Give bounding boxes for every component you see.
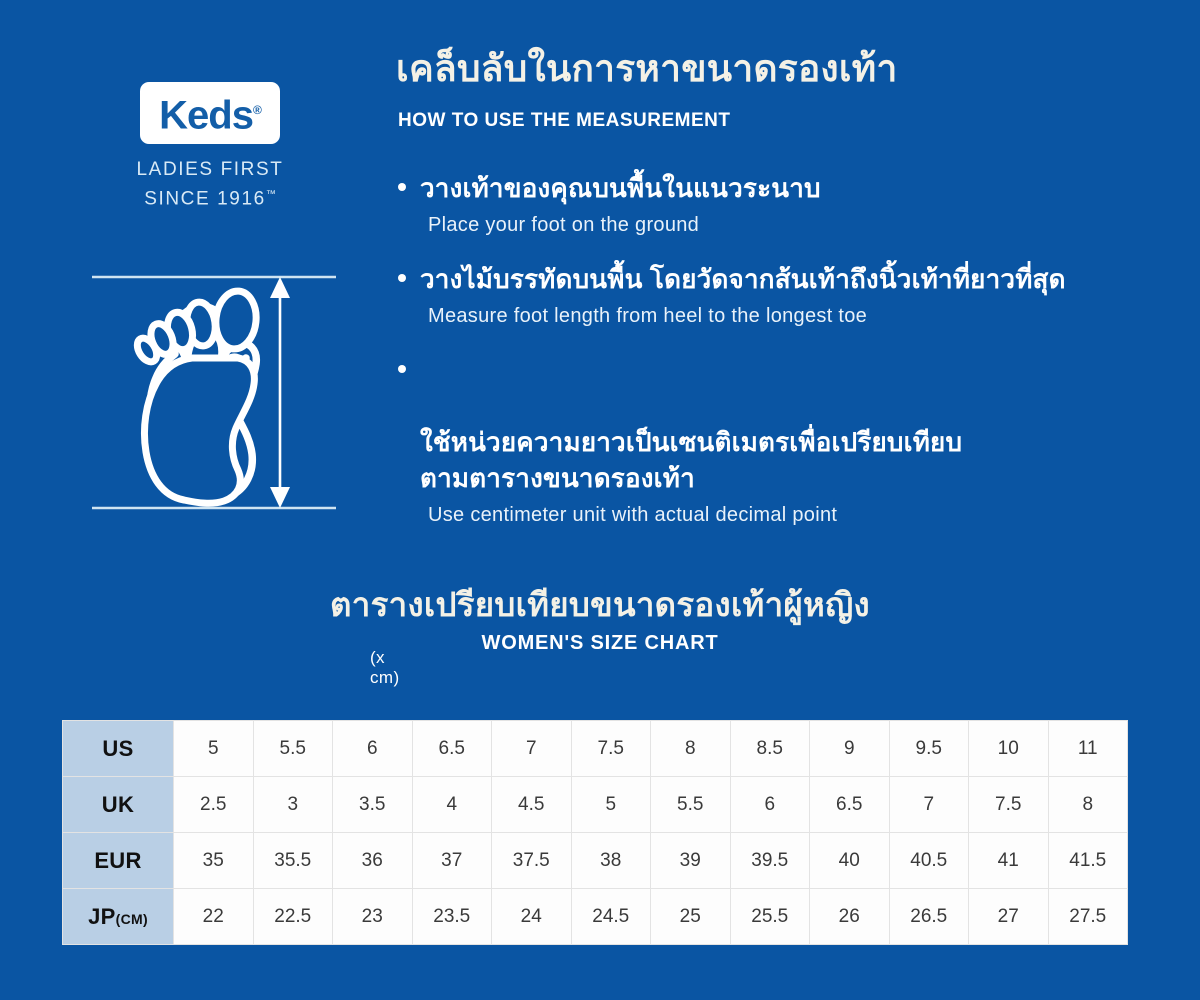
row-label-jp-text: JP bbox=[88, 904, 116, 929]
size-chart-body: US 5 5.5 6 6.5 7 7.5 8 8.5 9 9.5 10 11 U… bbox=[63, 721, 1128, 945]
step-2-thai-text: วางไม้บรรทัดบนพื้น โดยวัดจากส้นเท้าถึงนิ… bbox=[420, 264, 1066, 294]
step-2-english: Measure foot length from heel to the lon… bbox=[396, 305, 1156, 328]
cell-jp-0: 22 bbox=[174, 889, 254, 945]
table-row: UK 2.5 3 3.5 4 4.5 5 5.5 6 6.5 7 7.5 8 bbox=[63, 777, 1128, 833]
cell-eur-3: 37 bbox=[412, 833, 492, 889]
cell-uk-5: 5 bbox=[571, 777, 651, 833]
tagline-line-1: LADIES FIRST bbox=[110, 157, 310, 182]
cell-uk-1: 3 bbox=[253, 777, 333, 833]
table-row: EUR 35 35.5 36 37 37.5 38 39 39.5 40 40.… bbox=[63, 833, 1128, 889]
cell-jp-9: 26.5 bbox=[889, 889, 969, 945]
cell-uk-9: 7 bbox=[889, 777, 969, 833]
cell-eur-6: 39 bbox=[651, 833, 731, 889]
cell-uk-2: 3.5 bbox=[333, 777, 413, 833]
keds-logo-text: Keds bbox=[159, 94, 253, 138]
cell-jp-10: 27 bbox=[969, 889, 1049, 945]
cell-eur-9: 40.5 bbox=[889, 833, 969, 889]
step-3-thai: ใช้หน่วยความยาวเป็นเซนติเมตรเพื่อเปรียบเ… bbox=[396, 352, 1156, 496]
page-title-thai: เคล็บลับในการหาขนาดรองเท้า bbox=[396, 46, 898, 92]
brand-tagline: LADIES FIRST SINCE 1916™ bbox=[110, 157, 310, 211]
cell-us-0: 5 bbox=[174, 721, 254, 777]
foot-measurement-diagram: (x cm) bbox=[88, 268, 348, 518]
brand-logo-block: Keds® LADIES FIRST SINCE 1916™ bbox=[110, 82, 310, 211]
cell-eur-2: 36 bbox=[333, 833, 413, 889]
cell-jp-1: 22.5 bbox=[253, 889, 333, 945]
step-3-english: Use centimeter unit with actual decimal … bbox=[396, 504, 1156, 527]
cell-uk-3: 4 bbox=[412, 777, 492, 833]
keds-logo-box: Keds® bbox=[140, 82, 280, 144]
tagline-line-2: SINCE 1916™ bbox=[110, 182, 310, 211]
cell-uk-6: 5.5 bbox=[651, 777, 731, 833]
row-label-jp: JP(CM) bbox=[63, 889, 174, 945]
foot-outline-icon bbox=[88, 268, 348, 518]
registered-trademark-icon: ® bbox=[253, 103, 261, 117]
table-row: JP(CM) 22 22.5 23 23.5 24 24.5 25 25.5 2… bbox=[63, 889, 1128, 945]
step-1-english: Place your foot on the ground bbox=[396, 214, 1156, 237]
cell-us-9: 9.5 bbox=[889, 721, 969, 777]
cell-us-1: 5.5 bbox=[253, 721, 333, 777]
cell-us-8: 9 bbox=[810, 721, 890, 777]
size-guide-page: Keds® LADIES FIRST SINCE 1916™ bbox=[0, 0, 1200, 1000]
instruction-step-3: ใช้หน่วยความยาวเป็นเซนติเมตรเพื่อเปรียบเ… bbox=[396, 352, 1156, 527]
row-label-us: US bbox=[63, 721, 174, 777]
cell-uk-4: 4.5 bbox=[492, 777, 572, 833]
cell-us-3: 6.5 bbox=[412, 721, 492, 777]
keds-wordmark: Keds® bbox=[159, 90, 261, 135]
cell-us-11: 11 bbox=[1048, 721, 1128, 777]
size-chart-title-english: WOMEN'S SIZE CHART bbox=[0, 632, 1200, 655]
cell-uk-7: 6 bbox=[730, 777, 810, 833]
row-label-eur-text: EUR bbox=[94, 848, 141, 873]
cell-us-6: 8 bbox=[651, 721, 731, 777]
cell-eur-10: 41 bbox=[969, 833, 1049, 889]
trademark-icon: ™ bbox=[266, 189, 276, 200]
step-1-thai-text: วางเท้าของคุณบนพื้นในแนวระนาบ bbox=[420, 173, 821, 203]
row-label-us-text: US bbox=[102, 736, 133, 761]
row-label-uk: UK bbox=[63, 777, 174, 833]
cell-eur-11: 41.5 bbox=[1048, 833, 1128, 889]
size-chart-title-thai: ตารางเปรียบเทียบขนาดรองเท้าผู้หญิง bbox=[0, 578, 1200, 631]
table-row: US 5 5.5 6 6.5 7 7.5 8 8.5 9 9.5 10 11 bbox=[63, 721, 1128, 777]
cell-jp-3: 23.5 bbox=[412, 889, 492, 945]
cell-eur-4: 37.5 bbox=[492, 833, 572, 889]
page-title-english: HOW TO USE THE MEASUREMENT bbox=[398, 110, 731, 132]
cell-eur-1: 35.5 bbox=[253, 833, 333, 889]
cell-uk-10: 7.5 bbox=[969, 777, 1049, 833]
step-3-thai-text: ใช้หน่วยความยาวเป็นเซนติเมตรเพื่อเปรียบเ… bbox=[420, 427, 962, 493]
tagline-line-2-text: SINCE 1916 bbox=[144, 188, 266, 209]
cell-eur-0: 35 bbox=[174, 833, 254, 889]
cell-jp-11: 27.5 bbox=[1048, 889, 1128, 945]
cell-eur-7: 39.5 bbox=[730, 833, 810, 889]
size-chart-table: US 5 5.5 6 6.5 7 7.5 8 8.5 9 9.5 10 11 U… bbox=[62, 720, 1128, 945]
cell-eur-5: 38 bbox=[571, 833, 651, 889]
bullet-dot-icon bbox=[398, 183, 406, 191]
cell-jp-6: 25 bbox=[651, 889, 731, 945]
instruction-step-1: วางเท้าของคุณบนพื้นในแนวระนาบ Place your… bbox=[396, 170, 1156, 237]
cell-jp-7: 25.5 bbox=[730, 889, 810, 945]
bullet-dot-icon bbox=[398, 274, 406, 282]
instruction-step-2: วางไม้บรรทัดบนพื้น โดยวัดจากส้นเท้าถึงนิ… bbox=[396, 261, 1156, 328]
instruction-list: วางเท้าของคุณบนพื้นในแนวระนาบ Place your… bbox=[396, 170, 1156, 551]
cell-uk-11: 8 bbox=[1048, 777, 1128, 833]
step-2-thai: วางไม้บรรทัดบนพื้น โดยวัดจากส้นเท้าถึงนิ… bbox=[396, 261, 1156, 297]
cell-uk-0: 2.5 bbox=[174, 777, 254, 833]
row-label-jp-unit: (CM) bbox=[116, 911, 148, 927]
size-chart-container: US 5 5.5 6 6.5 7 7.5 8 8.5 9 9.5 10 11 U… bbox=[62, 720, 1128, 945]
cell-us-4: 7 bbox=[492, 721, 572, 777]
cell-jp-2: 23 bbox=[333, 889, 413, 945]
step-1-thai: วางเท้าของคุณบนพื้นในแนวระนาบ bbox=[396, 170, 1156, 206]
cell-us-5: 7.5 bbox=[571, 721, 651, 777]
row-label-uk-text: UK bbox=[102, 792, 134, 817]
cell-uk-8: 6.5 bbox=[810, 777, 890, 833]
cell-jp-8: 26 bbox=[810, 889, 890, 945]
cell-eur-8: 40 bbox=[810, 833, 890, 889]
cell-us-10: 10 bbox=[969, 721, 1049, 777]
cell-us-7: 8.5 bbox=[730, 721, 810, 777]
bullet-dot-icon bbox=[398, 365, 406, 373]
vertical-double-arrow-icon bbox=[270, 277, 290, 508]
cell-jp-5: 24.5 bbox=[571, 889, 651, 945]
row-label-eur: EUR bbox=[63, 833, 174, 889]
cell-jp-4: 24 bbox=[492, 889, 572, 945]
cell-us-2: 6 bbox=[333, 721, 413, 777]
